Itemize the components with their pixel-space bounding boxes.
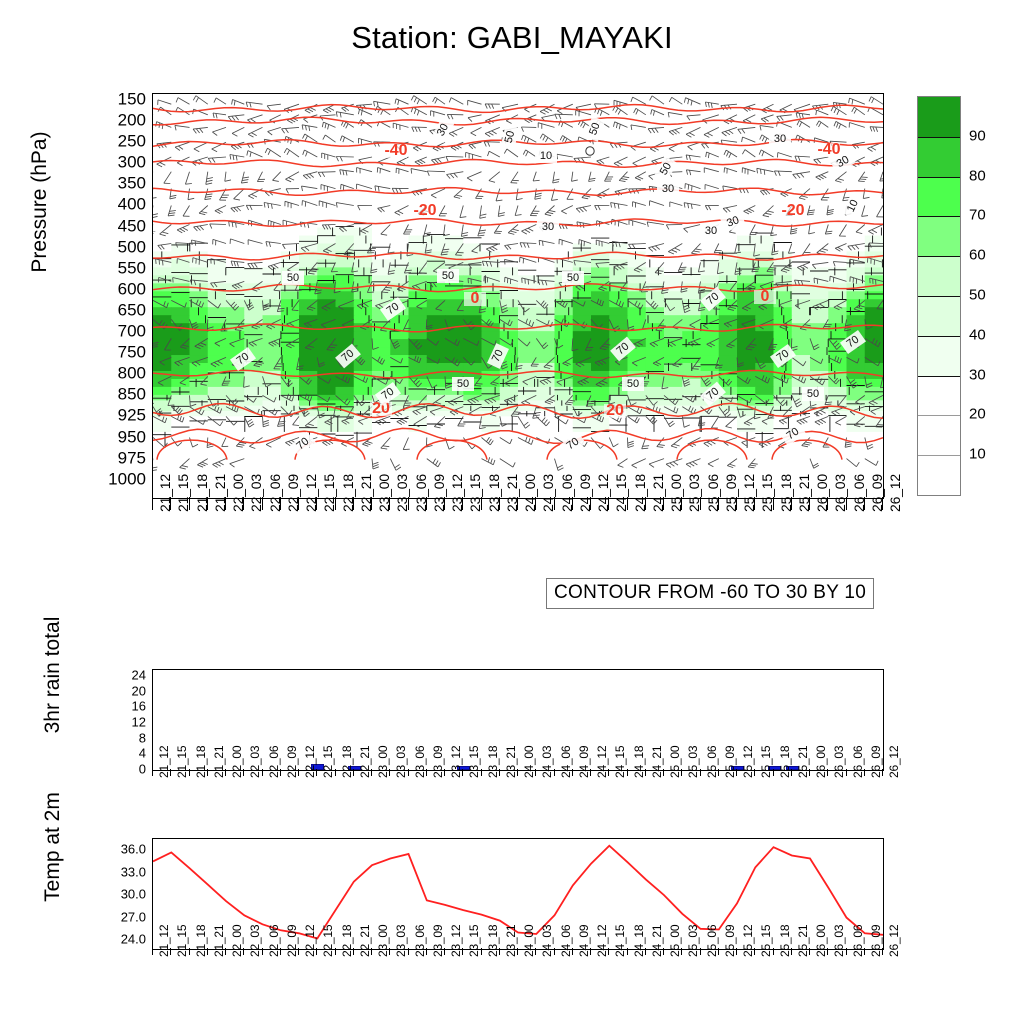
x-axis-tick — [663, 948, 664, 955]
x-axis-tick — [882, 769, 883, 776]
x-axis-tick — [444, 948, 445, 955]
x-axis-tick — [554, 769, 555, 776]
y-axis-tick-label: 500 — [118, 238, 146, 255]
y-axis-tick-label: 800 — [118, 365, 146, 382]
y-axis-tick-label: 1000 — [108, 470, 146, 487]
x-axis-tick — [389, 948, 390, 955]
x-axis-tick — [736, 497, 737, 510]
contour-label: 0 — [464, 290, 486, 307]
x-axis-tick — [152, 497, 153, 510]
x-axis-tick — [335, 948, 336, 955]
x-axis-tick — [572, 497, 573, 510]
x-axis-tick — [408, 948, 409, 955]
x-axis-tick — [280, 948, 281, 955]
rain-y-tick-label: 4 — [139, 746, 146, 761]
x-axis-tick — [481, 948, 482, 955]
x-axis-tick — [426, 497, 427, 510]
x-axis-tick — [791, 769, 792, 776]
x-axis-tick — [608, 948, 609, 955]
x-axis-tick — [681, 497, 682, 510]
y-axis-tick-label: 950 — [118, 428, 146, 445]
x-axis-tick — [754, 948, 755, 955]
x-axis-tick — [225, 948, 226, 955]
x-axis-tick — [627, 769, 628, 776]
x-axis-tick — [298, 497, 299, 510]
y-axis-tick-label: 550 — [118, 259, 146, 276]
x-axis-tick — [243, 769, 244, 776]
x-axis-tick — [809, 497, 810, 510]
x-axis-tick — [353, 497, 354, 510]
x-axis-tick — [280, 497, 281, 510]
x-axis-tick — [846, 769, 847, 776]
x-axis-tick — [718, 497, 719, 510]
x-axis-tick — [426, 948, 427, 955]
x-axis-tick — [225, 769, 226, 776]
contour-label: 30 — [769, 132, 791, 146]
contour-label: 50 — [562, 271, 584, 285]
x-axis-tick — [663, 497, 664, 510]
rain-y-axis-labels: 04812162024 — [108, 669, 146, 769]
x-axis-tick — [408, 497, 409, 510]
x-axis-tick — [189, 769, 190, 776]
x-axis-tick — [426, 769, 427, 776]
x-axis-tick — [827, 497, 828, 510]
x-axis-tick — [627, 948, 628, 955]
x-axis-tick — [608, 769, 609, 776]
y-axis-tick-label: 200 — [118, 112, 146, 129]
x-axis-tick — [462, 948, 463, 955]
x-axis-tick — [371, 497, 372, 510]
y-axis-tick-label: 150 — [118, 91, 146, 108]
y-axis-tick-label: 750 — [118, 344, 146, 361]
y-axis-tick-label: 450 — [118, 217, 146, 234]
x-axis-tick — [645, 948, 646, 955]
contour-label: 50 — [437, 269, 459, 283]
contour-label: 30 — [537, 220, 559, 234]
x-axis-tick — [262, 769, 263, 776]
x-axis-tick — [754, 497, 755, 510]
x-axis-tick — [207, 948, 208, 955]
colorbar-tick-label: 60 — [969, 247, 986, 264]
colorbar-tick-label: 10 — [969, 446, 986, 463]
y-axis-tick-label: 650 — [118, 301, 146, 318]
temp-x-axis-labels: 21_1221_1521_1821_2122_0022_0322_0622_09… — [152, 957, 882, 1027]
x-axis-tick — [791, 948, 792, 955]
x-axis-tick — [572, 948, 573, 955]
x-axis-tick — [225, 497, 226, 510]
x-axis-tick — [371, 948, 372, 955]
x-axis-tick — [298, 948, 299, 955]
y-axis-tick-label: 850 — [118, 386, 146, 403]
y-axis-tick-label: 300 — [118, 154, 146, 171]
x-axis-tick — [152, 769, 153, 776]
temp-x-ticks — [152, 948, 882, 956]
y-axis-tick-label: 250 — [118, 133, 146, 150]
contour-label: 0 — [754, 288, 776, 305]
x-axis-tick — [846, 497, 847, 510]
x-axis-tick — [408, 769, 409, 776]
contour-label: -40 — [817, 141, 840, 158]
rain-y-tick-label: 0 — [139, 762, 146, 777]
temp-y-tick-label: 36.0 — [121, 842, 146, 857]
x-axis-tick — [481, 769, 482, 776]
x-axis-tick — [827, 948, 828, 955]
x-axis-tick — [280, 769, 281, 776]
x-axis-tick — [189, 497, 190, 510]
x-axis-tick — [718, 769, 719, 776]
x-axis-tick — [316, 948, 317, 955]
contour-label: 30 — [700, 224, 722, 238]
x-axis-tick — [736, 948, 737, 955]
rain-y-tick-label: 12 — [132, 714, 146, 729]
x-axis-tick — [189, 948, 190, 955]
x-axis-tick — [444, 497, 445, 510]
contour-label: 20 — [604, 402, 626, 419]
x-axis-tick — [773, 948, 774, 955]
colorbar-tick-label: 50 — [969, 287, 986, 304]
colorbar-tick-label: 40 — [969, 326, 986, 343]
contour-legend-box: CONTOUR FROM -60 TO 30 BY 10 — [546, 578, 874, 609]
x-axis-tick — [754, 769, 755, 776]
x-axis-tick — [864, 497, 865, 510]
x-axis-tick — [499, 497, 500, 510]
temp-y-tick-label: 24.0 — [121, 932, 146, 947]
rain-y-tick-label: 8 — [139, 730, 146, 745]
x-axis-tick — [645, 497, 646, 510]
x-axis-tick — [645, 769, 646, 776]
y-axis-tick-label: 600 — [118, 280, 146, 297]
x-axis-tick — [827, 769, 828, 776]
x-axis-tick — [262, 948, 263, 955]
x-axis-tick — [554, 497, 555, 510]
x-axis-tick — [809, 769, 810, 776]
y-axis-tick-label: 925 — [118, 407, 146, 424]
x-axis-tick — [353, 769, 354, 776]
temp-y-axis-labels: 24.027.030.033.036.0 — [100, 838, 146, 948]
x-axis-tick — [608, 497, 609, 510]
x-axis-tick — [389, 497, 390, 510]
x-axis-tick — [335, 497, 336, 510]
colorbar-tick-label: 90 — [969, 127, 986, 144]
x-axis-tick — [809, 948, 810, 955]
x-axis-tick — [170, 948, 171, 955]
x-axis-tick — [700, 497, 701, 510]
x-axis-tick — [207, 769, 208, 776]
x-axis-tick — [481, 497, 482, 510]
x-axis-tick — [152, 948, 153, 955]
contour-label: -40 — [384, 142, 407, 159]
rain-y-tick-label: 20 — [132, 683, 146, 698]
x-axis-tick — [499, 948, 500, 955]
contour-label: 50 — [452, 377, 474, 391]
x-axis-tick — [517, 948, 518, 955]
x-axis-tick — [170, 497, 171, 510]
x-axis-tick — [243, 497, 244, 510]
x-axis-tick — [882, 497, 883, 510]
main-x-ticks — [152, 497, 882, 511]
x-axis-tick — [846, 948, 847, 955]
x-axis-tick — [353, 948, 354, 955]
x-axis-tick — [627, 497, 628, 510]
x-axis-tick — [554, 948, 555, 955]
x-axis-tick — [718, 948, 719, 955]
x-axis-tick — [462, 769, 463, 776]
x-axis-tick — [444, 769, 445, 776]
x-axis-tick-label: 26_12 — [887, 474, 903, 512]
x-axis-tick — [791, 497, 792, 510]
x-axis-tick — [517, 769, 518, 776]
x-axis-tick — [499, 769, 500, 776]
x-axis-tick — [262, 497, 263, 510]
contour-plot-canvas: -40-40-20-200020203050505030303010103030… — [153, 94, 883, 498]
temp-y-tick-label: 33.0 — [121, 864, 146, 879]
x-axis-tick — [773, 769, 774, 776]
colorbar-tick-label: 80 — [969, 167, 986, 184]
temperature-line — [153, 839, 883, 949]
x-axis-tick — [590, 769, 591, 776]
x-axis-tick — [864, 769, 865, 776]
x-axis-tick — [316, 497, 317, 510]
x-axis-tick — [736, 769, 737, 776]
x-axis-tick-label: 26_12 — [887, 746, 901, 778]
x-axis-tick — [170, 769, 171, 776]
chart-page: Station: GABI_MAYAKI Pressure (hPa) 1502… — [0, 0, 1024, 1024]
x-axis-tick — [335, 769, 336, 776]
contour-label: 50 — [802, 387, 824, 401]
rain-y-tick-label: 16 — [132, 699, 146, 714]
x-axis-tick — [316, 769, 317, 776]
x-axis-tick — [535, 948, 536, 955]
y-axis-tick-label: 400 — [118, 196, 146, 213]
rain-x-ticks — [152, 769, 882, 777]
x-axis-tick — [773, 497, 774, 510]
y-axis-tick-label: 350 — [118, 175, 146, 192]
temp-line-path — [153, 846, 883, 939]
x-axis-tick — [517, 497, 518, 510]
contour-plot[interactable]: -40-40-20-200020203050505030303010103030… — [152, 93, 884, 499]
x-axis-tick — [590, 497, 591, 510]
main-x-axis-labels: 21_1221_1521_1821_2122_0022_0322_0622_09… — [152, 512, 882, 582]
x-axis-tick-label: 26_12 — [887, 925, 901, 957]
contour-label: -20 — [413, 202, 436, 219]
contour-label: 50 — [622, 377, 644, 391]
colorbar-tick-label: 70 — [969, 207, 986, 224]
x-axis-tick — [243, 948, 244, 955]
temp-y-axis-title: Temp at 2m — [41, 732, 65, 962]
x-axis-tick — [389, 769, 390, 776]
colorbar-tick-label: 20 — [969, 406, 986, 423]
main-y-axis-title: Pressure (hPa) — [28, 72, 52, 332]
x-axis-tick — [535, 497, 536, 510]
x-axis-tick — [207, 497, 208, 510]
contour-label: -20 — [781, 202, 804, 219]
x-axis-tick — [590, 948, 591, 955]
contour-label: 50 — [282, 271, 304, 285]
x-axis-tick — [572, 769, 573, 776]
rain-y-tick-label: 24 — [132, 667, 146, 682]
main-y-axis-labels: 1502002503003504004505005506006507007508… — [100, 93, 146, 497]
colorbar-labels: 908070605040302010 — [917, 96, 1017, 494]
contour-label: 30 — [657, 182, 679, 196]
y-axis-tick-label: 700 — [118, 323, 146, 340]
x-axis-tick — [371, 769, 372, 776]
x-axis-tick — [700, 948, 701, 955]
temp-y-tick-label: 27.0 — [121, 909, 146, 924]
contour-label: 10 — [535, 149, 557, 163]
temp-y-tick-label: 30.0 — [121, 887, 146, 902]
x-axis-tick — [700, 769, 701, 776]
x-axis-tick — [663, 769, 664, 776]
y-axis-tick-label: 975 — [118, 449, 146, 466]
x-axis-tick — [882, 948, 883, 955]
x-axis-tick — [864, 948, 865, 955]
x-axis-tick — [462, 497, 463, 510]
x-axis-tick — [298, 769, 299, 776]
x-axis-tick — [681, 948, 682, 955]
page-title: Station: GABI_MAYAKI — [0, 20, 1024, 56]
colorbar-tick-label: 30 — [969, 366, 986, 383]
x-axis-tick — [535, 769, 536, 776]
x-axis-tick — [681, 769, 682, 776]
